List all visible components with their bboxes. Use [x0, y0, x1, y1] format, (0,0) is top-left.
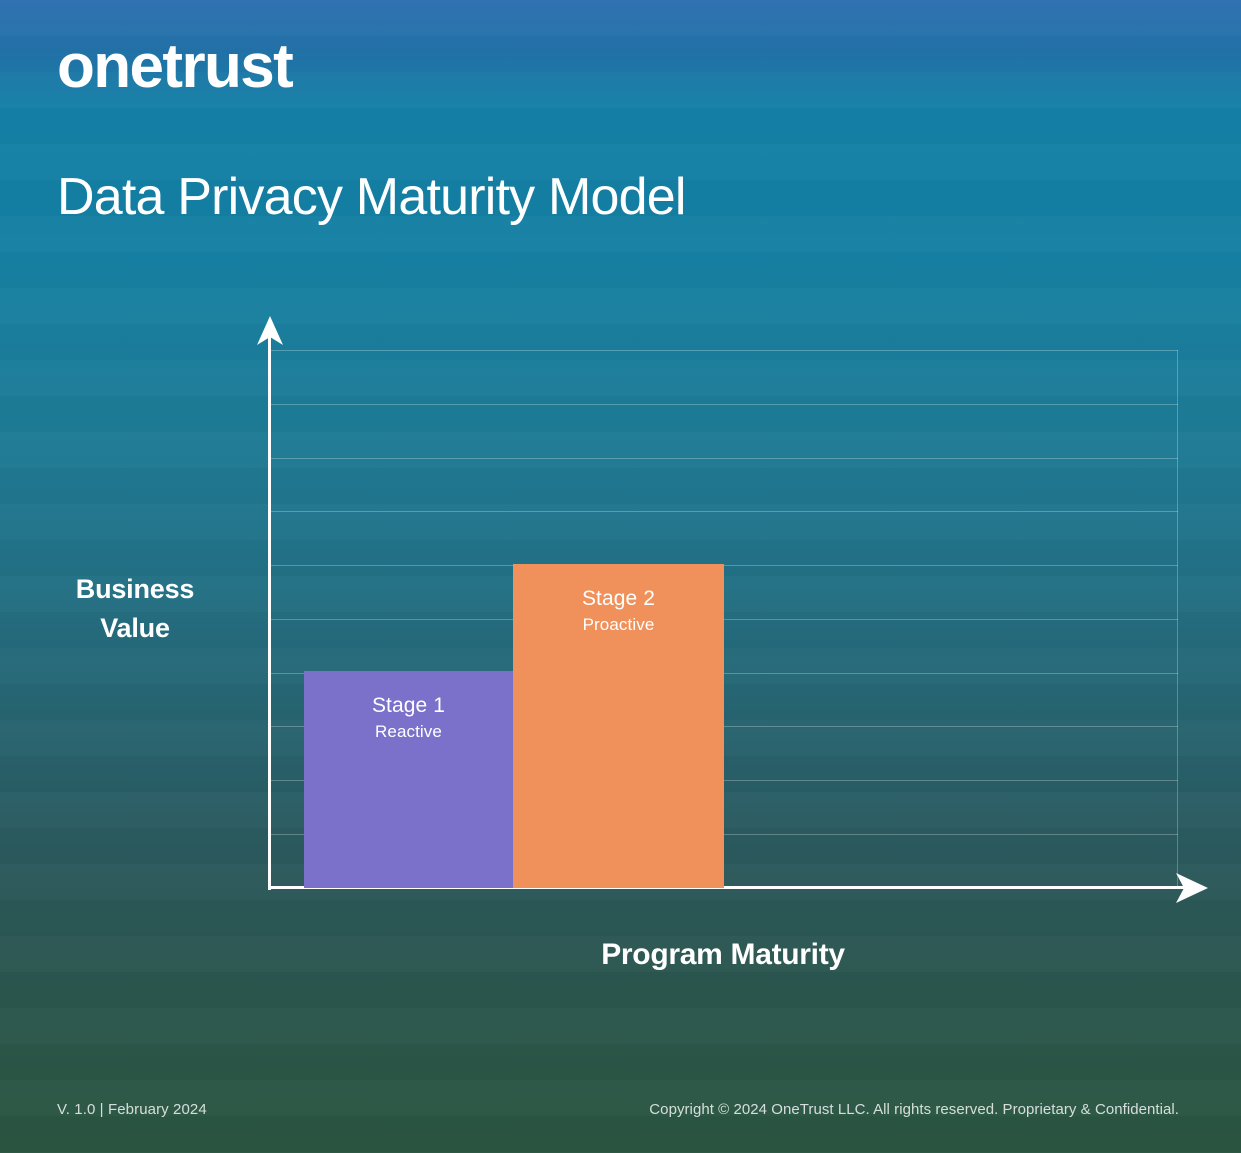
x-axis-label: Program Maturity — [268, 938, 1178, 972]
gridline-right-border — [1177, 350, 1178, 888]
y-axis-label: Business Value — [30, 570, 240, 648]
gridline — [268, 350, 1178, 351]
bar-stage-1-sublabel: Reactive — [375, 721, 442, 743]
slide-canvas: onetrust Data Privacy Maturity Model Sta… — [0, 0, 1241, 1153]
maturity-bar-chart: Stage 1 Reactive Stage 2 Proactive Busin… — [0, 0, 1241, 1153]
footer-version: V. 1.0 | February 2024 — [57, 1101, 207, 1118]
y-axis-label-line-1: Business — [30, 570, 240, 609]
footer-copyright: Copyright © 2024 OneTrust LLC. All right… — [649, 1101, 1179, 1118]
gridline — [268, 511, 1178, 512]
bar-stage-2-sublabel: Proactive — [583, 614, 655, 636]
y-axis-line — [268, 334, 271, 890]
gridline — [268, 404, 1178, 405]
bar-stage-2[interactable]: Stage 2 Proactive — [513, 564, 724, 888]
bar-stage-1[interactable]: Stage 1 Reactive — [304, 671, 513, 888]
bar-stage-1-label: Stage 1 — [372, 693, 445, 719]
gridline — [268, 458, 1178, 459]
y-axis-arrow-icon — [256, 316, 284, 346]
bar-stage-2-label: Stage 2 — [582, 586, 655, 612]
x-axis-arrow-icon — [1174, 872, 1208, 904]
y-axis-label-line-2: Value — [30, 609, 240, 648]
